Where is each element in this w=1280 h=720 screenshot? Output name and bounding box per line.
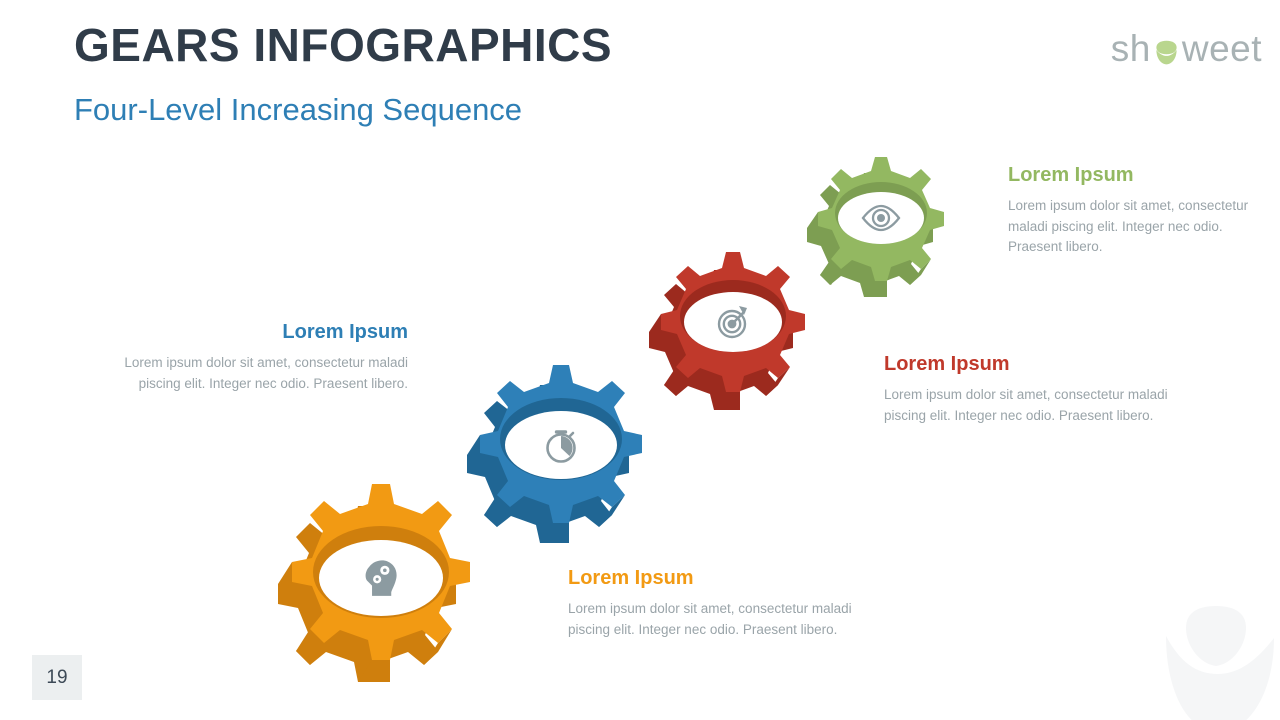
slide-canvas: GEARS INFOGRAPHICS Four-Level Increasing… [0, 0, 1280, 720]
page-number-value: 19 [46, 667, 67, 689]
block-blue-title: Lorem Ipsum [118, 320, 408, 344]
block-green-body: Lorem ipsum dolor sit amet, consectetur … [1008, 196, 1253, 258]
block-blue-body: Lorem ipsum dolor sit amet, consectetur … [118, 353, 408, 394]
gear-green[interactable] [774, 142, 989, 302]
brand-text-before: sh [1111, 30, 1151, 67]
page-subtitle: Four-Level Increasing Sequence [74, 93, 522, 127]
block-orange-body: Lorem ipsum dolor sit amet, consectetur … [568, 599, 858, 640]
block-orange-title: Lorem Ipsum [568, 566, 858, 590]
text-block-blue: Lorem Ipsum Lorem ipsum dolor sit amet, … [118, 320, 408, 394]
brand-text-after: weet [1182, 30, 1262, 67]
target-arrow-icon [719, 311, 745, 337]
page-title: GEARS INFOGRAPHICS [74, 22, 612, 68]
text-block-green: Lorem Ipsum Lorem ipsum dolor sit amet, … [1008, 163, 1253, 258]
text-block-orange: Lorem Ipsum Lorem ipsum dolor sit amet, … [568, 566, 858, 640]
block-red-body: Lorem ipsum dolor sit amet, consectetur … [884, 385, 1174, 426]
brand-logo: sh weet [1111, 26, 1262, 70]
watermark-logo-icon [1138, 594, 1280, 720]
page-number-badge: 19 [32, 655, 82, 700]
showeet-leaf-mark-icon [1153, 39, 1180, 66]
block-green-title: Lorem Ipsum [1008, 163, 1253, 187]
block-red-title: Lorem Ipsum [884, 352, 1174, 376]
text-block-red: Lorem Ipsum Lorem ipsum dolor sit amet, … [884, 352, 1174, 426]
